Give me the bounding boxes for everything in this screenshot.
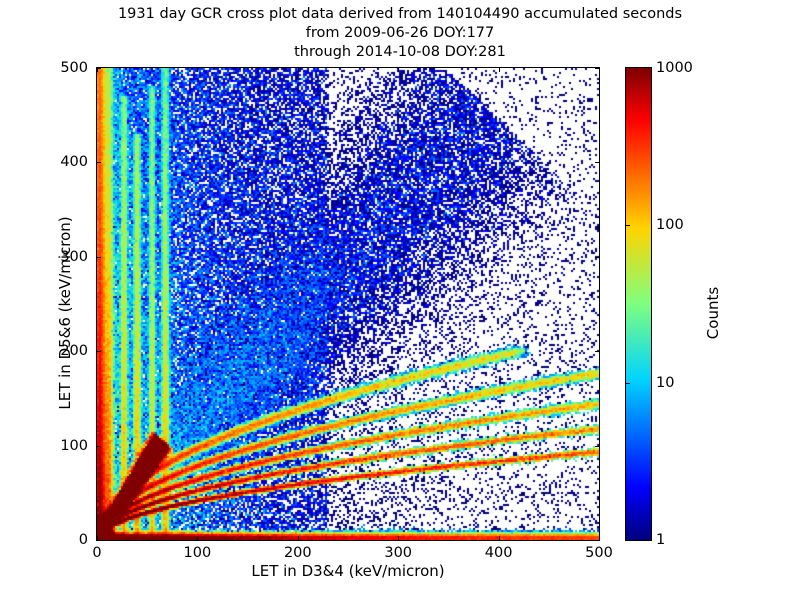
colorbar-gradient [626,68,651,540]
plot-title-line-2: from 2009-06-26 DOY:177 [0,24,800,43]
x-tick-label-300: 300 [384,545,412,561]
x-tick-mark-500 [599,536,600,540]
y-tick-mark-500 [97,68,101,69]
y-tick-label-100: 100 [0,438,88,454]
colorbar-tick-label-100: 100 [656,217,684,233]
y-tick-mark-right-200 [595,351,599,352]
x-tick-mark-top-500 [599,68,600,72]
colorbar [625,67,652,541]
y-tick-mark-right-400 [595,162,599,163]
x-tick-label-0: 0 [92,545,101,561]
y-tick-mark-right-300 [595,257,599,258]
plot-area [96,67,600,541]
x-tick-mark-300 [398,536,399,540]
figure-canvas: 1931 day GCR cross plot data derived fro… [0,0,800,600]
density-heatmap [97,68,599,540]
plot-title: 1931 day GCR cross plot data derived fro… [0,5,800,62]
x-tick-mark-top-100 [197,68,198,72]
y-tick-label-500: 500 [0,60,88,76]
x-tick-mark-top-300 [398,68,399,72]
x-tick-mark-100 [197,536,198,540]
y-tick-mark-right-100 [595,446,599,447]
x-tick-mark-top-200 [298,68,299,72]
y-tick-mark-right-0 [595,540,599,541]
colorbar-tick-label-1000: 1000 [656,60,693,76]
x-tick-mark-top-400 [499,68,500,72]
y-axis-label: LET in D5&6 (keV/micron) [56,183,74,443]
y-tick-mark-200 [97,351,101,352]
x-tick-label-100: 100 [184,545,212,561]
x-tick-mark-200 [298,536,299,540]
x-axis-label: LET in D3&4 (keV/micron) [96,562,600,580]
x-tick-label-200: 200 [284,545,312,561]
y-tick-mark-0 [97,540,101,541]
y-tick-label-300: 300 [0,249,88,265]
x-tick-mark-400 [499,536,500,540]
y-tick-mark-300 [97,257,101,258]
y-tick-mark-400 [97,162,101,163]
colorbar-tick-label-1: 1 [656,532,665,548]
colorbar-tick-mark-10 [626,383,630,384]
y-tick-label-0: 0 [0,532,88,548]
y-tick-mark-right-500 [595,68,599,69]
colorbar-tick-mark-100 [626,225,630,226]
y-tick-label-200: 200 [0,343,88,359]
x-tick-label-500: 500 [585,545,613,561]
plot-title-line-1: 1931 day GCR cross plot data derived fro… [0,5,800,24]
x-tick-label-400: 400 [485,545,513,561]
y-tick-mark-100 [97,446,101,447]
y-tick-label-400: 400 [0,154,88,170]
colorbar-tick-label-10: 10 [656,375,674,391]
colorbar-title: Counts [704,248,722,378]
